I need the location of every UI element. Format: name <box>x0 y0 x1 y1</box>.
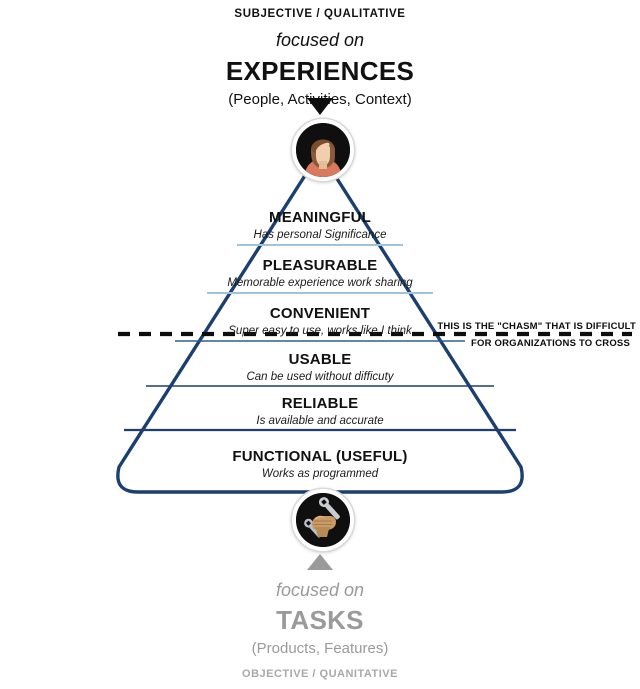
chasm-annotation: THIS IS THE "CHASM" THAT IS DIFFICULT FO… <box>436 318 636 352</box>
person-avatar-icon <box>292 119 354 181</box>
bottom-subtitle: (Products, Features) <box>0 638 640 660</box>
tier-description: Is available and accurate <box>0 414 640 429</box>
pyramid-tier-usable: USABLE Can be used without difficuty <box>0 350 640 385</box>
bottom-tasks-block: focused on TASKS (Products, Features) OB… <box>0 578 640 682</box>
bottom-focused-on-label: focused on <box>0 578 640 602</box>
tier-description: Works as programmed <box>0 467 640 482</box>
tier-title: USABLE <box>0 350 640 369</box>
tier-title: RELIABLE <box>0 394 640 413</box>
tier-description: Memorable experience work sharing <box>0 276 640 291</box>
bottom-eyebrow-label: OBJECTIVE / QUANITATIVE <box>0 666 640 682</box>
tier-title: PLEASURABLE <box>0 256 640 275</box>
bottom-headline: TASKS <box>0 603 640 637</box>
pyramid-tier-functional: FUNCTIONAL (USEFUL) Works as programmed <box>0 447 640 482</box>
tier-description: Can be used without difficuty <box>0 370 640 385</box>
chasm-annotation-line2: FOR ORGANIZATIONS TO CROSS <box>436 335 630 352</box>
chasm-annotation-line1: THIS IS THE "CHASM" THAT IS DIFFICULT <box>437 321 636 332</box>
triangle-up-icon <box>307 554 333 570</box>
tier-title: MEANINGFUL <box>0 208 640 227</box>
pyramid-tier-meaningful: MEANINGFUL Has personal Significance <box>0 208 640 243</box>
tier-title: FUNCTIONAL (USEFUL) <box>0 447 640 466</box>
tier-description: Has personal Significance <box>0 228 640 243</box>
hand-holding-wrench-glyph <box>296 493 350 547</box>
pyramid-tier-pleasurable: PLEASURABLE Memorable experience work sh… <box>0 256 640 291</box>
pyramid-tier-reliable: RELIABLE Is available and accurate <box>0 394 640 429</box>
person-avatar-glyph <box>296 123 350 177</box>
hand-holding-wrench-icon <box>292 489 354 551</box>
